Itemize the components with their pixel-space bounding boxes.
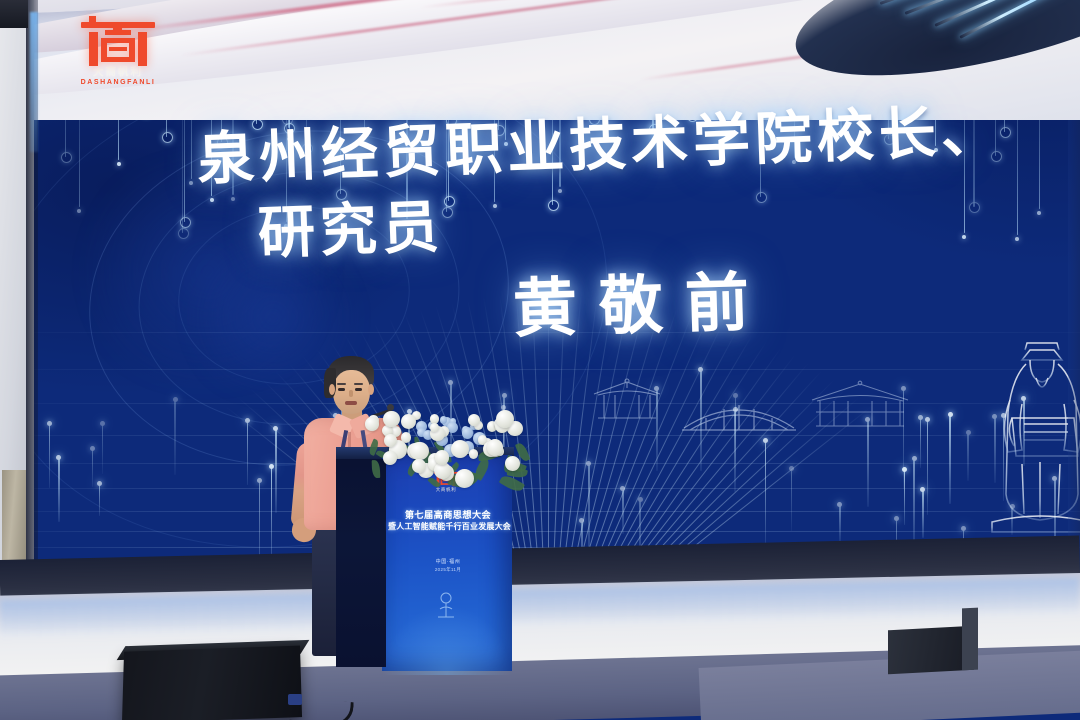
podium-emblem-icon xyxy=(432,587,460,623)
stage-monitor-right-side xyxy=(962,608,978,671)
shang-character-logo-icon xyxy=(75,16,161,66)
conference-stage-photo: 大商帆利 DASHANGFANLI 泉州经贸职业技术学院校长、 研究员 黄敬前 xyxy=(0,0,1080,720)
podium: 大商帆利 第七届高商思想大会 暨人工智能赋能千行百业发展大会 中国·福州 202… xyxy=(336,455,512,675)
screen-brand-logo: 大商帆利 DASHANGFANLI xyxy=(62,16,174,88)
podium-location: 中国·福州 xyxy=(388,559,508,566)
speaker-nose xyxy=(349,390,353,397)
podium-date: 2025年11月 xyxy=(388,566,508,573)
podium-subtext: 中国·福州 2025年11月 xyxy=(388,559,508,573)
flower-arrangement xyxy=(360,404,528,486)
speaker-eye-right xyxy=(355,388,362,391)
logo-pinyin-text: DASHANGFANLI xyxy=(62,78,174,87)
speaker-ear-right xyxy=(368,384,374,395)
speaker-brow-left xyxy=(337,383,346,385)
screen-title: 泉州经贸职业技术学院校长、 研究员 xyxy=(196,92,1031,274)
logo-chinese-text: 大商帆利 xyxy=(62,67,174,78)
speaker-ear-left xyxy=(329,384,335,395)
screen-speaker-name: 黄敬前 xyxy=(512,265,772,346)
left-wall-fixture xyxy=(0,0,28,28)
left-wall-led-strip xyxy=(30,12,38,152)
temple-building-wireframe-icon xyxy=(808,380,912,432)
speaker-eye-left xyxy=(338,388,345,391)
speaker-mouth xyxy=(345,401,357,405)
podium-headline-line2: 暨人工智能赋能千行百业发展大会 xyxy=(388,521,508,532)
speaker-brow-right xyxy=(354,383,363,385)
podium-headline: 第七届高商思想大会 暨人工智能赋能千行百业发展大会 xyxy=(388,509,508,532)
podium-side-panel xyxy=(336,459,386,667)
podium-headline-line1: 第七届高商思想大会 xyxy=(388,509,508,521)
stage-monitor-speaker-icon xyxy=(122,646,302,720)
ceiling-dark-recess xyxy=(782,0,1080,107)
monitor-plug xyxy=(288,694,302,705)
arch-bridge-wireframe-icon xyxy=(680,390,798,434)
podium-logo-text: 大商帆利 xyxy=(424,487,468,493)
confucius-sage-hologram-icon xyxy=(978,334,1080,534)
pavilion-wireframe-icon xyxy=(588,378,666,424)
